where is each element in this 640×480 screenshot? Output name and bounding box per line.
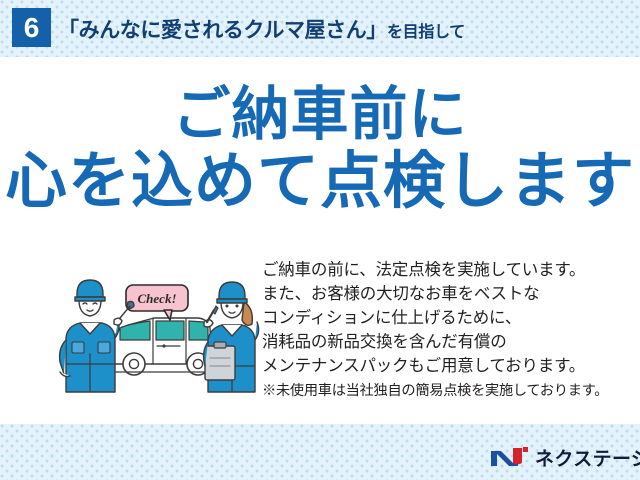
nextage-n-mark xyxy=(489,444,529,470)
body-line: ご納車の前に、法定点検を実施しています。 xyxy=(262,258,628,282)
logo-text: ネクステージ xyxy=(535,444,640,471)
nextage-logo: ネクステージ xyxy=(489,443,640,471)
section-number-badge: 6 xyxy=(12,8,51,47)
headline: ご納車前に 心を込めて点検します xyxy=(0,84,640,215)
headline-line-2: 心を込めて点検します xyxy=(0,149,640,215)
check-speech-bubble: Check! xyxy=(126,285,188,320)
body-note: ※未使用車は当社独自の簡易点検を実施しております。 xyxy=(262,380,628,403)
body-line: また、お客様の大切なお車をベストな xyxy=(262,282,628,306)
svg-text:Check!: Check! xyxy=(138,291,177,306)
header-title-suffix: を目指して xyxy=(387,18,465,42)
body-line: メンテナンスパックもご用意しております。 xyxy=(262,354,628,378)
body-line: 消耗品の新品交換を含んだ有償の xyxy=(262,330,628,354)
van-graphic xyxy=(100,318,212,375)
headline-line-1: ご納車前に xyxy=(0,84,640,145)
header-title: 「みんなに愛されるクルマ屋さん」 を目指して xyxy=(58,14,465,42)
body-copy: ご納車の前に、法定点検を実施しています。 また、お客様の大切なお車をベストな コ… xyxy=(262,258,628,403)
female-mechanic xyxy=(204,282,259,392)
header-title-main: 「みんなに愛されるクルマ屋さん」 xyxy=(58,14,387,44)
mechanics-illustration: Check! xyxy=(58,268,263,400)
body-line: コンディションに仕上げるために、 xyxy=(262,306,628,330)
promo-panel: 6 「みんなに愛されるクルマ屋さん」 を目指して ご納車前に 心を込めて点検しま… xyxy=(0,0,640,480)
